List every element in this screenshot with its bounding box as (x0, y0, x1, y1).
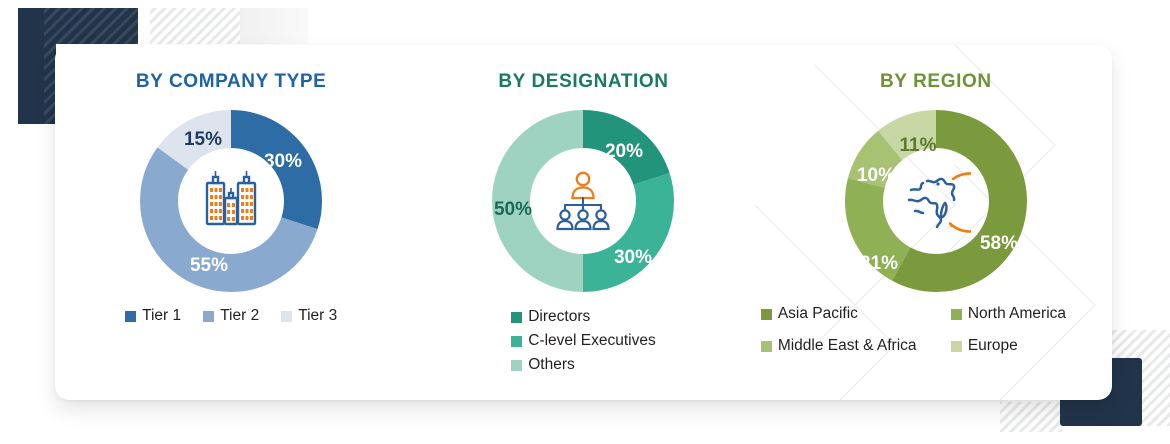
legend-label: Others (528, 356, 575, 374)
donut-label-europe: 11% (899, 135, 936, 156)
panel-by-company-type: BY COMPANY TYPE 30% 55% (55, 45, 407, 400)
legend-item-others[interactable]: Others (511, 356, 575, 374)
donut-label-tier-1: 30% (264, 151, 302, 172)
legend-swatch-icon (281, 311, 292, 322)
legend-label: North America (968, 305, 1066, 323)
donut-label-north-america: 21% (860, 253, 898, 274)
legend-item-europe[interactable]: Europe (951, 337, 1111, 355)
legend-swatch-icon (511, 336, 522, 347)
legend-label: C-level Executives (528, 332, 656, 350)
legend-item-tier-3[interactable]: Tier 3 (281, 307, 337, 325)
donut-label-others: 50% (494, 199, 532, 220)
donut-region: 58% 21% 10% 11% (836, 101, 1036, 301)
decor-corner-top-left-solid (18, 8, 44, 124)
buildings-icon (198, 168, 264, 234)
panel-title-region: BY REGION (880, 71, 992, 93)
legend-label: Tier 2 (220, 307, 259, 325)
legend-swatch-icon (951, 309, 962, 320)
legend-swatch-icon (511, 312, 522, 323)
infographic-canvas: BY COMPANY TYPE 30% 55% (0, 0, 1170, 444)
legend-region: Asia Pacific North America Middle East &… (761, 305, 1111, 355)
donut-label-tier-2: 55% (190, 255, 228, 276)
donut-label-middle-east-africa: 10% (857, 165, 895, 186)
org-chart-icon (550, 168, 616, 234)
legend-swatch-icon (951, 341, 962, 352)
globe-icon (901, 166, 971, 236)
legend-item-middle-east-africa[interactable]: Middle East & Africa (761, 337, 951, 355)
legend-label: Directors (528, 308, 590, 326)
decor-stripes-top (150, 8, 240, 44)
panel-by-designation: BY DESIGNATION 20% 30% 50% (407, 45, 759, 400)
donut-company-type: 30% 55% 15% (131, 101, 331, 301)
donut-label-c-level: 30% (614, 247, 652, 268)
legend-company-type: Tier 1 Tier 2 Tier 3 (114, 307, 348, 325)
legend-swatch-icon (203, 311, 214, 322)
legend-swatch-icon (761, 341, 772, 352)
legend-item-north-america[interactable]: North America (951, 305, 1111, 323)
legend-label: Tier 1 (142, 307, 181, 325)
legend-item-tier-1[interactable]: Tier 1 (125, 307, 181, 325)
donut-label-directors: 20% (605, 141, 643, 162)
legend-label: Tier 3 (298, 307, 337, 325)
legend-swatch-icon (761, 309, 772, 320)
decor-stripes-bottom (1000, 402, 1062, 432)
legend-designation: Directors C-level Executives Others (511, 305, 656, 377)
panel-title-company-type: BY COMPANY TYPE (136, 71, 327, 93)
legend-item-c-level-executives[interactable]: C-level Executives (511, 332, 656, 350)
panel-title-designation: BY DESIGNATION (498, 71, 668, 93)
charts-card: BY COMPANY TYPE 30% 55% (55, 45, 1112, 400)
legend-item-asia-pacific[interactable]: Asia Pacific (761, 305, 951, 323)
legend-label: Asia Pacific (778, 305, 858, 323)
donut-designation: 20% 30% 50% (483, 101, 683, 301)
legend-label: Middle East & Africa (778, 337, 917, 355)
donut-label-tier-3: 15% (184, 129, 222, 150)
legend-swatch-icon (511, 360, 522, 371)
legend-swatch-icon (125, 311, 136, 322)
legend-item-directors[interactable]: Directors (511, 308, 590, 326)
legend-item-tier-2[interactable]: Tier 2 (203, 307, 259, 325)
legend-label: Europe (968, 337, 1018, 355)
donut-label-asia-pacific: 58% (980, 233, 1018, 254)
decor-grey-block-top-right (238, 8, 308, 44)
panel-by-region: BY REGION 58% (760, 45, 1112, 400)
